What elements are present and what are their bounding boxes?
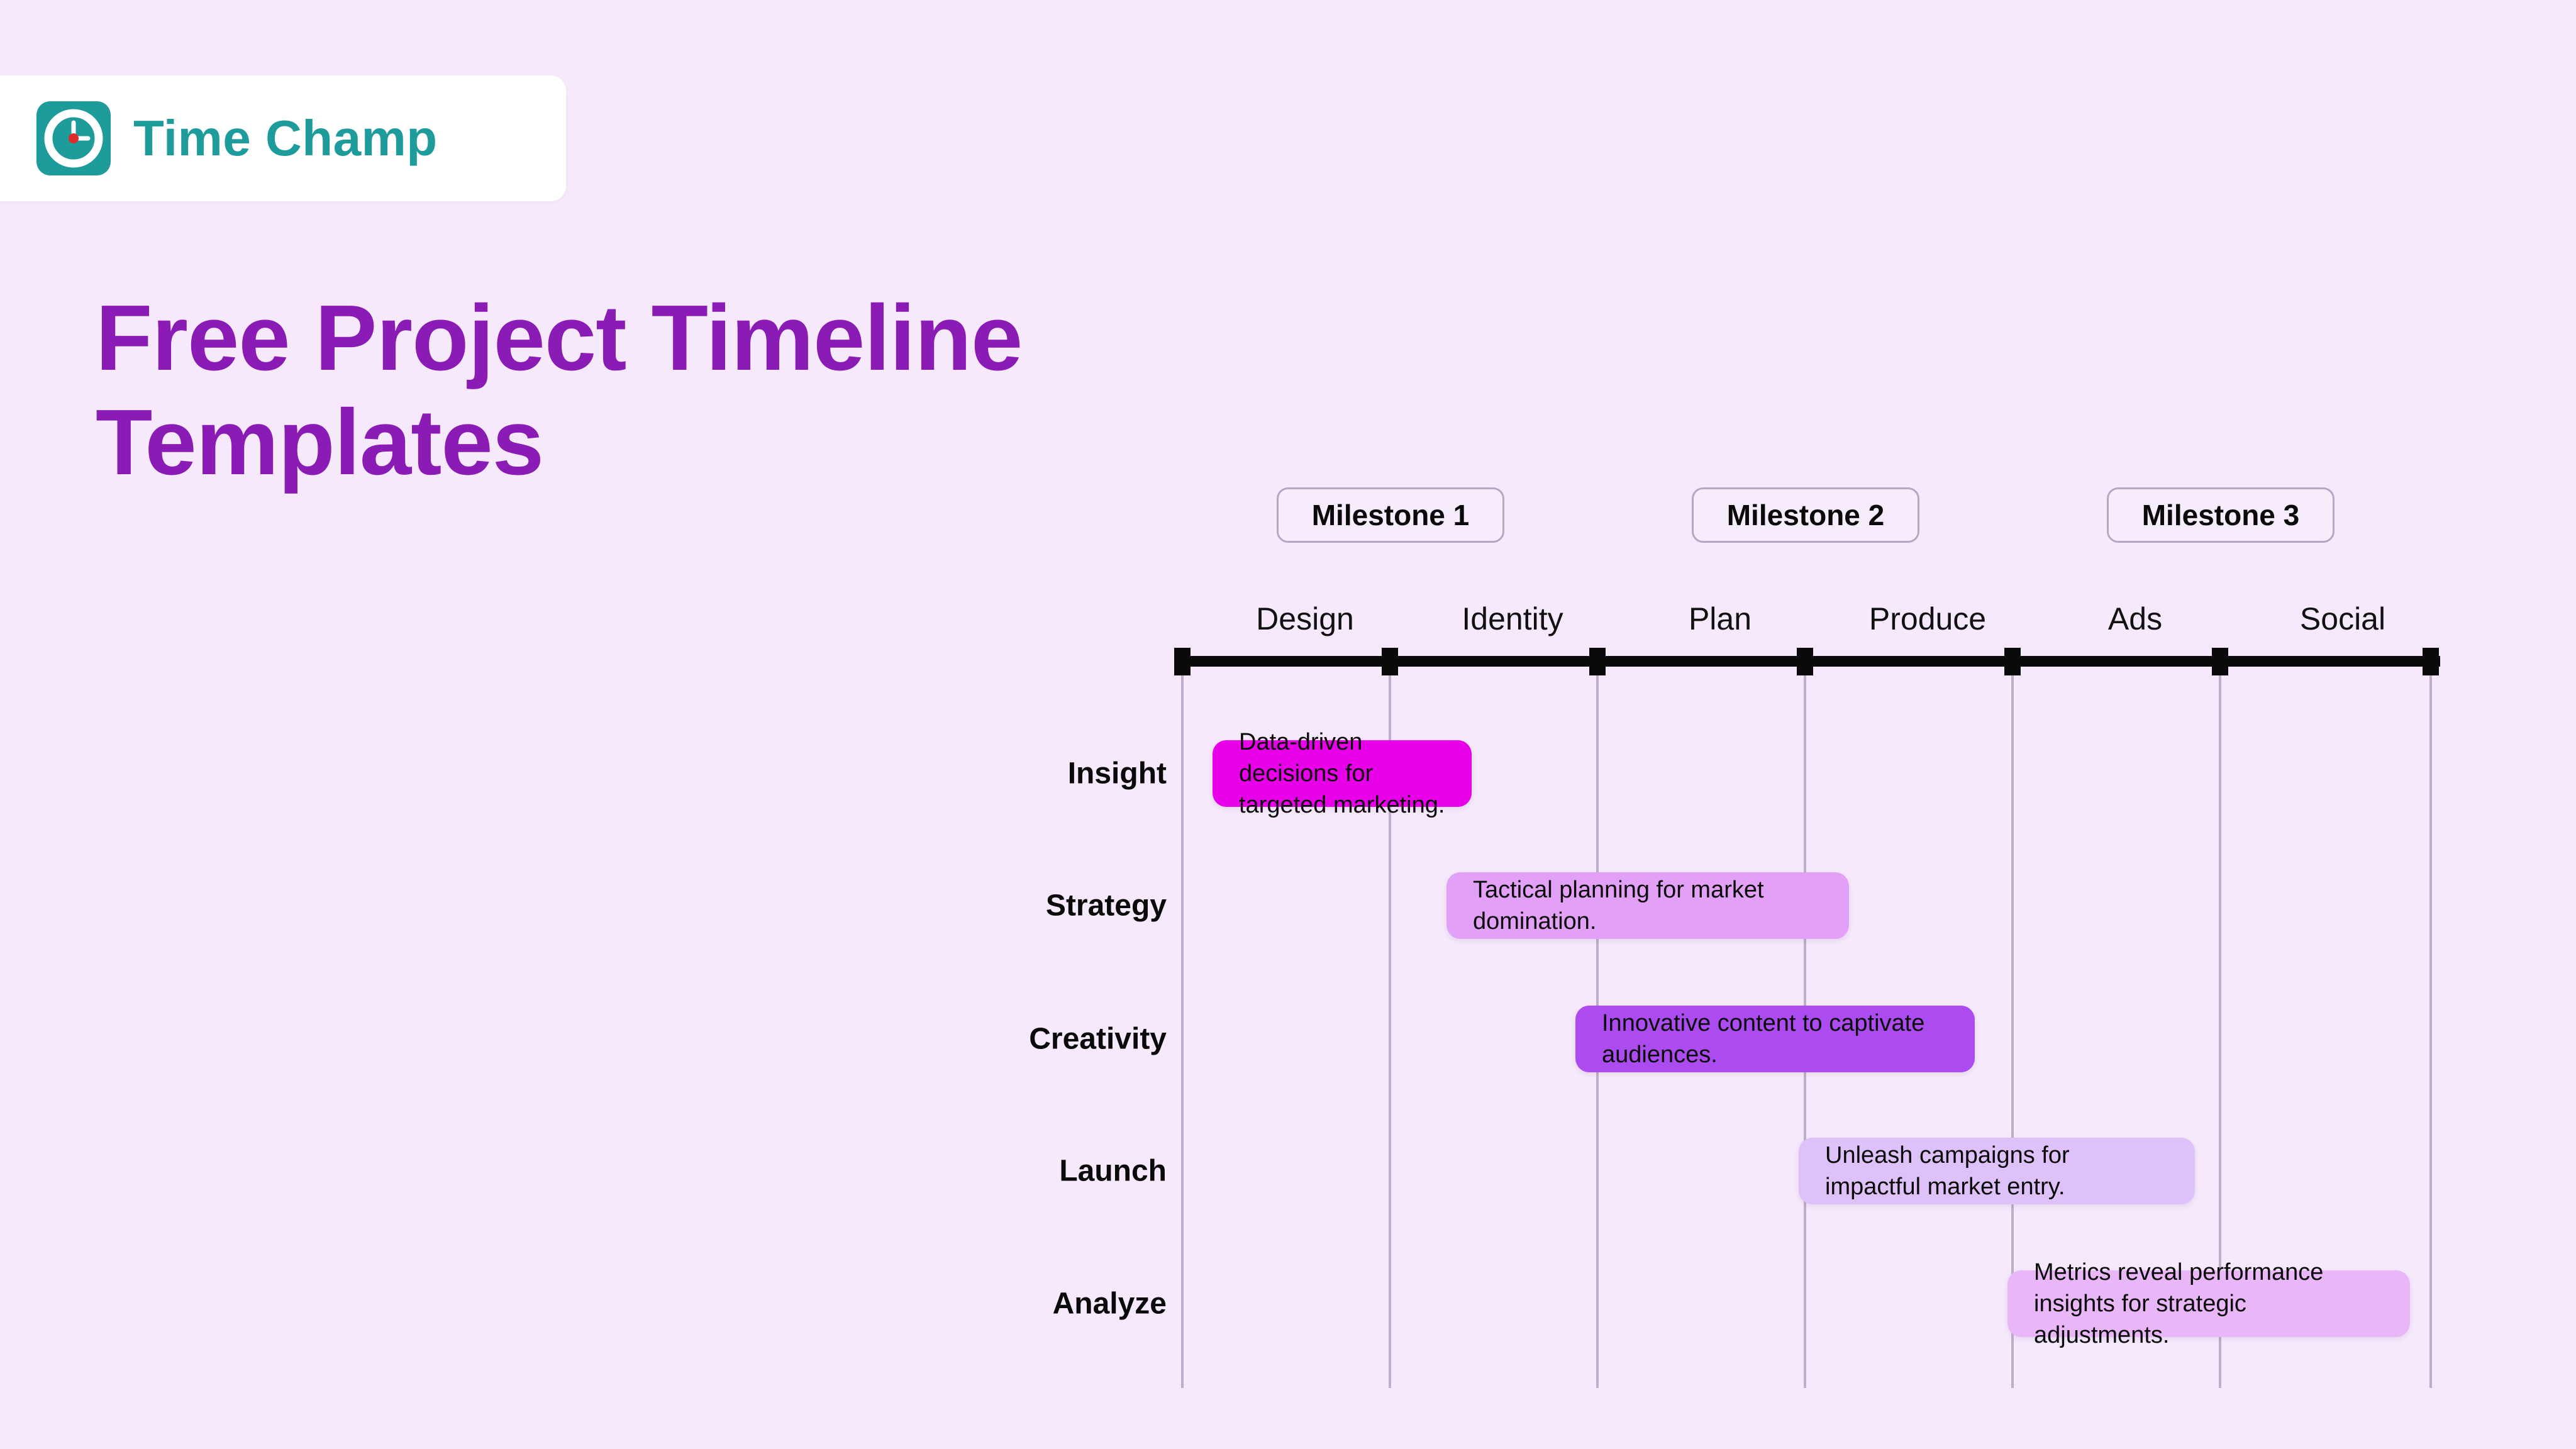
milestone-badge-2[interactable]: Milestone 2 [1692,487,1919,543]
task-bar-creativity[interactable]: Innovative content to captivate audience… [1575,1006,1975,1072]
column-header-design: Design [1256,601,1354,637]
axis-tick-0 [1174,648,1191,675]
project-timeline-chart: Milestone 1Milestone 2Milestone 3 Design… [0,0,2576,1449]
gridline-0 [1181,662,1184,1388]
column-header-ads: Ads [2108,601,2162,637]
row-label-launch: Launch [1059,1154,1167,1189]
row-label-creativity: Creativity [1029,1022,1167,1057]
axis-tick-3 [1797,648,1813,675]
task-bar-analyze[interactable]: Metrics reveal performance insights for … [2007,1270,2410,1337]
gridline-6 [2429,662,2432,1388]
brand-name: Time Champ [133,109,438,167]
task-bar-insight[interactable]: Data-driven decisions for targeted marke… [1213,740,1472,807]
task-bar-launch[interactable]: Unleash campaigns for impactful market e… [1799,1138,2195,1204]
column-header-plan: Plan [1689,601,1752,637]
column-header-produce: Produce [1869,601,1986,637]
task-bar-text: Data-driven decisions for targeted marke… [1213,726,1472,821]
column-header-social: Social [2300,601,2385,637]
task-bar-text: Unleash campaigns for impactful market e… [1799,1140,2195,1202]
milestone-badge-1[interactable]: Milestone 1 [1277,487,1504,543]
milestone-badge-3[interactable]: Milestone 3 [2107,487,2334,543]
task-bar-text: Metrics reveal performance insights for … [2007,1257,2410,1351]
axis-tick-2 [1589,648,1606,675]
task-bar-text: Tactical planning for market domination. [1446,874,1849,937]
axis-tick-5 [2212,648,2228,675]
clock-target-icon [36,101,111,175]
row-label-strategy: Strategy [1046,889,1167,923]
row-label-analyze: Analyze [1053,1287,1167,1321]
column-header-identity: Identity [1462,601,1563,637]
axis-tick-6 [2423,648,2439,675]
row-label-insight: Insight [1068,757,1167,791]
task-bar-text: Innovative content to captivate audience… [1575,1008,1975,1070]
page-title: Free Project Timeline Templates [96,286,1479,495]
axis-tick-4 [2004,648,2021,675]
axis-tick-1 [1382,648,1398,675]
task-bar-strategy[interactable]: Tactical planning for market domination. [1446,872,1849,939]
brand-logo-panel: Time Champ [0,75,566,201]
